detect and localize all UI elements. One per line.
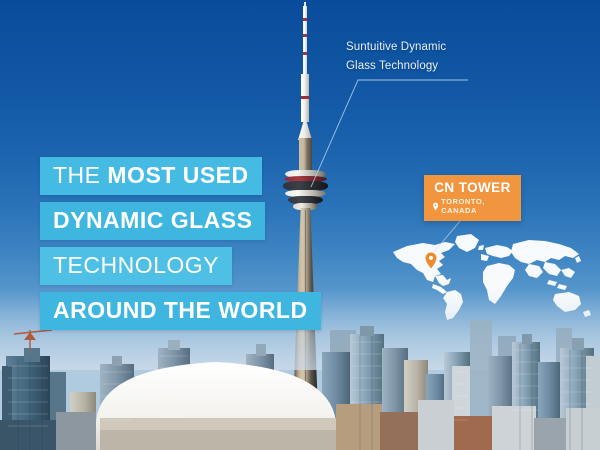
headline-bar-2: DYNAMIC GLASS (40, 202, 265, 240)
headline-bar-4: AROUND THE WORLD (40, 292, 321, 330)
callout-line-2: Glass Technology (346, 57, 446, 76)
badge-location-row: TORONTO, CANADA (433, 197, 512, 215)
badge-location-text: TORONTO, CANADA (441, 197, 512, 215)
cn-tower-location-badge[interactable]: CN TOWER TORONTO, CANADA (424, 175, 521, 221)
callout-line-1: Suntuitive Dynamic (346, 38, 446, 57)
headline-1-bold: MOST USED (107, 162, 248, 188)
headline-bar-1: THE MOST USED (40, 157, 262, 195)
poster-canvas: Suntuitive Dynamic Glass Technology THE … (0, 0, 600, 450)
headline-1-light: THE (53, 162, 107, 188)
headline-4-bold: AROUND THE WORLD (53, 297, 308, 323)
headline-2-bold: DYNAMIC GLASS (53, 207, 252, 233)
headline-bar-3: TECHNOLOGY (40, 247, 232, 285)
map-pin-icon (433, 202, 438, 211)
headline-block: THE MOST USED DYNAMIC GLASS TECHNOLOGY A… (40, 157, 321, 337)
callout-label: Suntuitive Dynamic Glass Technology (346, 38, 446, 76)
badge-title: CN TOWER (433, 180, 512, 196)
headline-3-light: TECHNOLOGY (53, 252, 219, 278)
